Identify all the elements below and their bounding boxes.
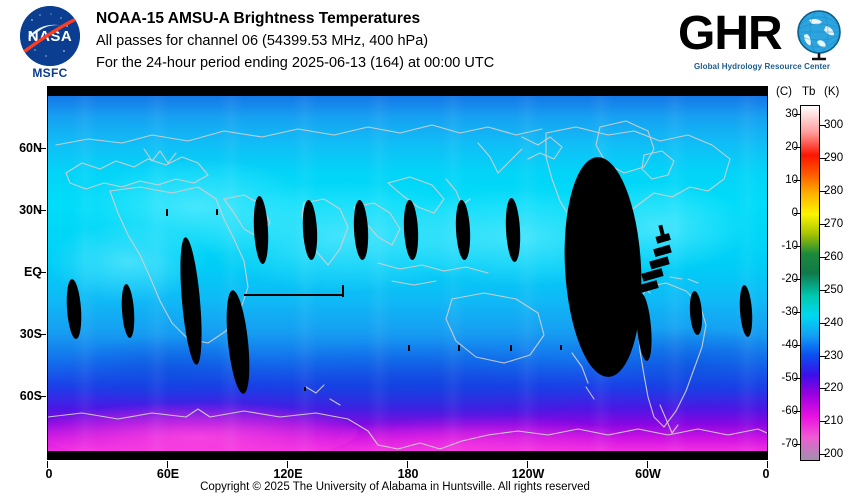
colorbar-celsius-tick--70 (794, 444, 801, 445)
colorbar-gradient[interactable] (800, 105, 820, 461)
colorbar-celsius-tick--50 (794, 378, 801, 379)
colorbar-celsius-tick--60 (794, 411, 801, 412)
colorbar-celsius-tick-20 (794, 147, 801, 148)
colorbar-kelvin-210: 210 (824, 415, 843, 427)
colorbar-kelvin-250: 250 (824, 284, 843, 296)
x-tick-label-60W: 60W (635, 467, 661, 481)
colorbar-kelvin-tick-290 (819, 158, 826, 159)
page-title: NOAA-15 AMSU-A Brightness Temperatures (96, 8, 656, 30)
map-raster (48, 87, 767, 459)
colorbar-celsius-tick-30 (794, 114, 801, 115)
colorbar-kelvin-tick-230 (819, 356, 826, 357)
colorbar-kelvin-tick-210 (819, 421, 826, 422)
nasa-insignia-svg: NASA (20, 6, 80, 66)
title-block: NOAA-15 AMSU-A Brightness Temperatures A… (96, 8, 656, 74)
colorbar-celsius-tick--30 (794, 312, 801, 313)
colorbar-celsius-tick--10 (794, 246, 801, 247)
colorbar-kelvin-290: 290 (824, 152, 843, 164)
longitude-axis: 0 60E 120E 180 120W 60W 0 (0, 461, 790, 483)
x-tick-label-60E: 60E (157, 467, 179, 481)
y-tick-30N (38, 210, 46, 211)
colorbar-kelvin-280: 280 (824, 185, 843, 197)
subtitle-period: For the 24-hour period ending 2025-06-13… (96, 52, 656, 74)
colorbar-celsius-tick-0 (794, 213, 801, 214)
nasa-logo: NASA MSFC (13, 6, 87, 84)
colorbar-kelvin-260: 260 (824, 251, 843, 263)
colorbar-kelvin-270: 270 (824, 218, 843, 230)
ghrc-logo: GHR Global Hydrology Resource Center (676, 4, 848, 82)
colorbar-kelvin-220: 220 (824, 382, 843, 394)
colorbar-kelvin-tick-200 (819, 454, 826, 455)
svg-text:GHR: GHR (678, 7, 782, 60)
x-tick-label-120E: 120E (273, 467, 302, 481)
y-tick-60N (38, 148, 46, 149)
south-pole-nodata-band (48, 451, 767, 459)
ghrc-tagline: Global Hydrology Resource Center (676, 62, 848, 71)
colorbar-block: (C) Tb (K) 3020100-10-20-30-40-50-60-703… (776, 86, 854, 478)
colorbar-celsius-tick--40 (794, 345, 801, 346)
y-tick-30S (38, 334, 46, 335)
brightness-temperature-map[interactable] (47, 86, 768, 460)
x-tick-label-120W: 120W (512, 467, 545, 481)
subtitle-channel: All passes for channel 06 (54399.53 MHz,… (96, 30, 656, 52)
colorbar-kelvin-tick-240 (819, 323, 826, 324)
x-tick-label-0: 0 (46, 467, 53, 481)
latitude-axis: 60N 30N EQ 30S 60S (0, 86, 42, 460)
arctic-nodata-band (48, 87, 767, 96)
page-header: NASA MSFC NOAA-15 AMSU-A Brightness Temp… (0, 0, 854, 86)
colorbar-variable: Tb (802, 86, 815, 98)
colorbar-kelvin-tick-270 (819, 224, 826, 225)
colorbar-unit-kelvin: (K) (824, 86, 839, 98)
y-tick-60S (38, 396, 46, 397)
nasa-center-label: MSFC (13, 66, 87, 80)
colorbar-kelvin-tick-280 (819, 191, 826, 192)
colorbar-kelvin-200: 200 (824, 448, 843, 460)
ghrc-wordmark-svg: GHR (676, 4, 848, 62)
copyright-notice: Copyright © 2025 The University of Alaba… (0, 481, 790, 493)
colorbar-kelvin-240: 240 (824, 317, 843, 329)
colorbar-kelvin-230: 230 (824, 350, 843, 362)
colorbar-kelvin-tick-250 (819, 290, 826, 291)
x-tick-label-180: 180 (398, 467, 419, 481)
colorbar-celsius-tick-10 (794, 180, 801, 181)
x-tick-label-360: 0 (763, 467, 770, 481)
colorbar-kelvin-tick-260 (819, 257, 826, 258)
colorbar-celsius-tick--20 (794, 279, 801, 280)
nasa-insignia: NASA (20, 6, 80, 66)
colorbar-kelvin-tick-300 (819, 125, 826, 126)
colorbar-kelvin-300: 300 (824, 119, 843, 131)
colorbar-kelvin-tick-220 (819, 388, 826, 389)
colorbar-unit-celsius: (C) (776, 86, 792, 98)
y-tick-EQ (38, 272, 46, 273)
